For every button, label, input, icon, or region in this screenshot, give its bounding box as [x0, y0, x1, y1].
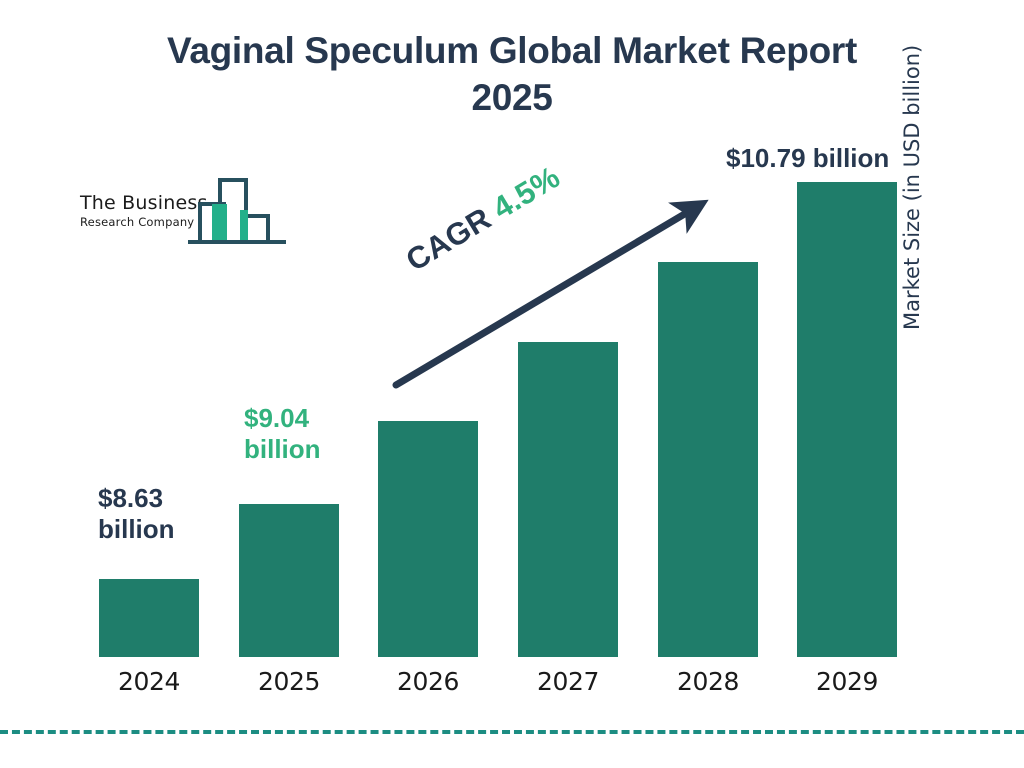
x-tick-2024: 2024: [69, 667, 229, 696]
bar-chart-plot: 202420252026202720282029 $8.63 billion$9…: [0, 0, 1024, 768]
y-axis-title: Market Size (in USD billion): [900, 0, 924, 330]
value-label-0: $8.63 billion: [98, 483, 175, 545]
bar-2024: [99, 579, 199, 657]
bar-2029: [797, 182, 897, 657]
value-label-1: $9.04 billion: [244, 403, 321, 465]
cagr-label-word: CAGR: [400, 201, 497, 278]
bar-2026: [378, 421, 478, 657]
x-tick-2029: 2029: [767, 667, 927, 696]
x-tick-2025: 2025: [209, 667, 369, 696]
footer-divider: [0, 730, 1024, 734]
bar-2028: [658, 262, 758, 657]
x-tick-2027: 2027: [488, 667, 648, 696]
bar-2027: [518, 342, 618, 657]
bar-2025: [239, 504, 339, 657]
cagr-label-value: 4.5%: [486, 159, 565, 226]
cagr-annotation: CAGR 4.5%: [400, 159, 566, 279]
x-tick-2026: 2026: [348, 667, 508, 696]
value-label-2: $10.79 billion: [726, 143, 889, 174]
x-tick-2028: 2028: [628, 667, 788, 696]
